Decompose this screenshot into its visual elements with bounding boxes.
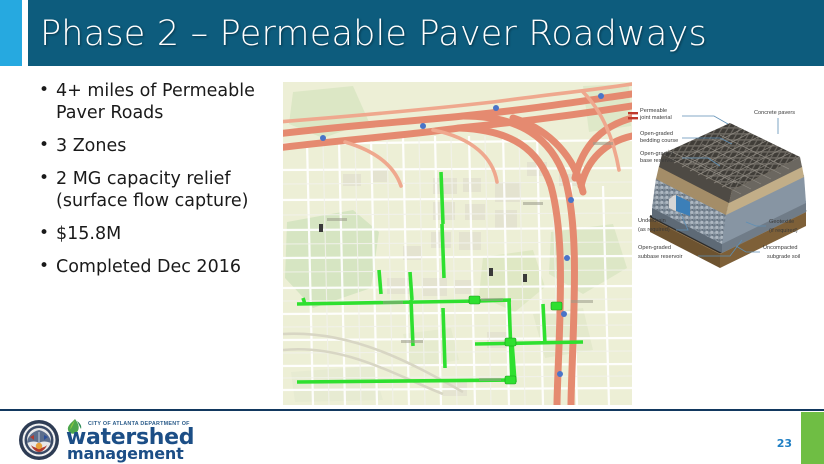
page-title: Phase 2 – Permeable Paver Roadways: [40, 8, 810, 60]
logo-word-management: management: [67, 446, 184, 462]
label-subbase-line1: Open-graded: [638, 245, 671, 251]
list-item: $15.8M: [36, 223, 276, 245]
bullet-list: 4+ miles of Permeable Paver Roads 3 Zone…: [36, 80, 276, 289]
label-concrete-pavers: Concrete pavers: [754, 110, 795, 116]
footer-green-block: [801, 412, 824, 464]
label-bedding-line2: bedding course: [640, 138, 678, 144]
label-subbase-line2: subbase reservoir: [638, 254, 683, 260]
city-of-atlanta-seal-icon: [18, 419, 60, 461]
page-number: 23: [760, 437, 792, 450]
label-permeable-joint-line1: Permeable: [640, 108, 667, 114]
list-item: 3 Zones: [36, 135, 276, 157]
cross-section-graphic: Permeable joint material Open-graded bed…: [628, 104, 820, 280]
title-accent-bar: [0, 0, 22, 66]
label-geotextile-line1: Geotextile: [769, 219, 794, 225]
list-item: 4+ miles of Permeable Paver Roads: [36, 80, 276, 124]
list-item: 2 MG capacity relief (surface flow captu…: [36, 168, 276, 212]
label-underdrain-line2: (as required): [638, 227, 670, 233]
map-graphic: [283, 82, 632, 405]
label-permeable-joint-line2: joint material: [639, 115, 672, 121]
label-base-line2: base reservoir: [640, 158, 676, 164]
footer-divider: [0, 409, 824, 411]
label-subgrade-line1: Uncompacted: [763, 245, 798, 251]
label-underdrain-line1: Underdrain: [638, 218, 666, 224]
permeable-paver-cross-section: Permeable joint material Open-graded bed…: [628, 104, 820, 280]
list-item: Completed Dec 2016: [36, 256, 276, 278]
watershed-management-logo: CITY OF ATLANTA DEPARTMENT OF watershed …: [66, 419, 266, 463]
label-geotextile-line2: (if required): [769, 228, 798, 234]
project-area-map: [283, 82, 632, 405]
slide-canvas: Phase 2 – Permeable Paver Roadways 4+ mi…: [0, 0, 824, 464]
label-subgrade-line2: subgrade soil: [767, 254, 800, 260]
label-base-line1: Open-graded: [640, 151, 673, 157]
label-bedding-line1: Open-graded: [640, 131, 673, 137]
